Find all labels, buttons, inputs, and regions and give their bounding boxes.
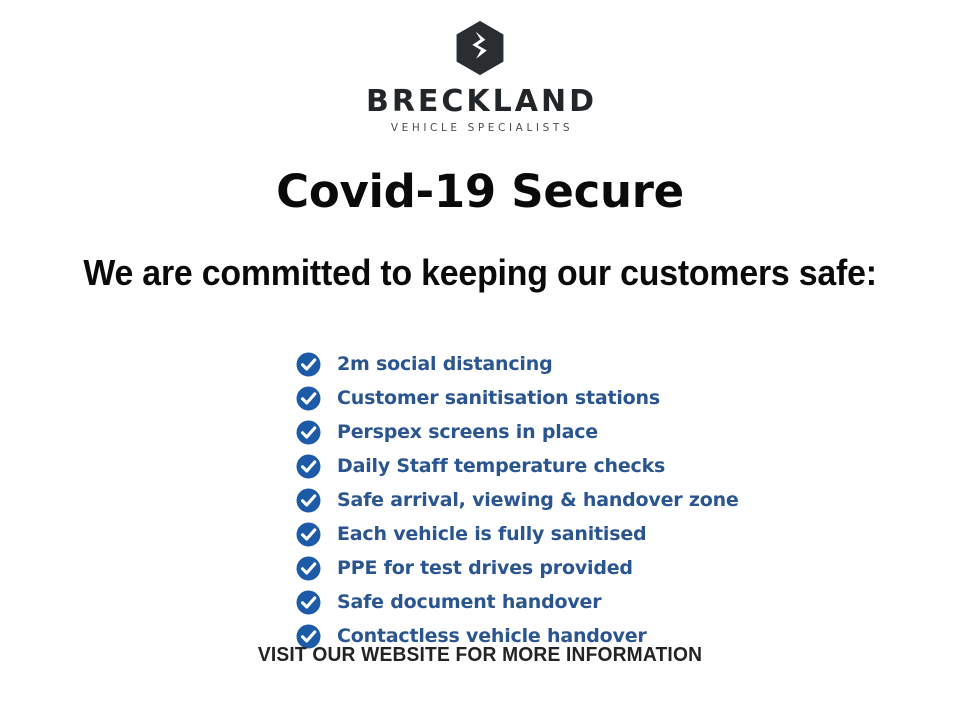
check-circle-icon (296, 420, 321, 445)
list-item: Customer sanitisation stations (296, 382, 736, 416)
list-item: PPE for test drives provided (296, 552, 736, 586)
list-item: Daily Staff temperature checks (296, 450, 736, 484)
covid-19-secure-poster: BRECKLAND VEHICLE SPECIALISTS Covid-19 S… (0, 0, 960, 720)
website-cta-text: VISIT OUR WEBSITE FOR MORE INFORMATION (19, 645, 941, 665)
list-item-label: 2m social distancing (337, 355, 552, 374)
list-item-label: PPE for test drives provided (337, 559, 633, 578)
check-circle-icon (296, 590, 321, 615)
list-item: Safe document handover (296, 586, 736, 620)
page-subtitle: We are committed to keeping our customer… (83, 254, 877, 292)
brand-name: BRECKLAND (363, 87, 597, 117)
list-item-label: Safe arrival, viewing & handover zone (337, 491, 739, 510)
list-item-label: Each vehicle is fully sanitised (337, 525, 646, 544)
check-circle-icon (296, 556, 321, 581)
list-item-label: Daily Staff temperature checks (337, 457, 665, 476)
page-title: Covid-19 Secure (276, 168, 684, 215)
check-circle-icon (296, 488, 321, 513)
breckland-hexagon-b-mark-icon (449, 18, 511, 80)
brand-tagline: VEHICLE SPECIALISTS (387, 123, 573, 134)
brand-logo: BRECKLAND VEHICLE SPECIALISTS (363, 18, 597, 134)
safety-measures-list: 2m social distancing Customer sanitisati… (296, 348, 736, 654)
check-circle-icon (296, 522, 321, 547)
list-item-label: Safe document handover (337, 593, 601, 612)
list-item-label: Customer sanitisation stations (337, 389, 660, 408)
list-item: Each vehicle is fully sanitised (296, 518, 736, 552)
check-circle-icon (296, 352, 321, 377)
list-item: Perspex screens in place (296, 416, 736, 450)
check-circle-icon (296, 386, 321, 411)
check-circle-icon (296, 454, 321, 479)
list-item-label: Perspex screens in place (337, 423, 598, 442)
list-item: 2m social distancing (296, 348, 736, 382)
list-item: Safe arrival, viewing & handover zone (296, 484, 736, 518)
